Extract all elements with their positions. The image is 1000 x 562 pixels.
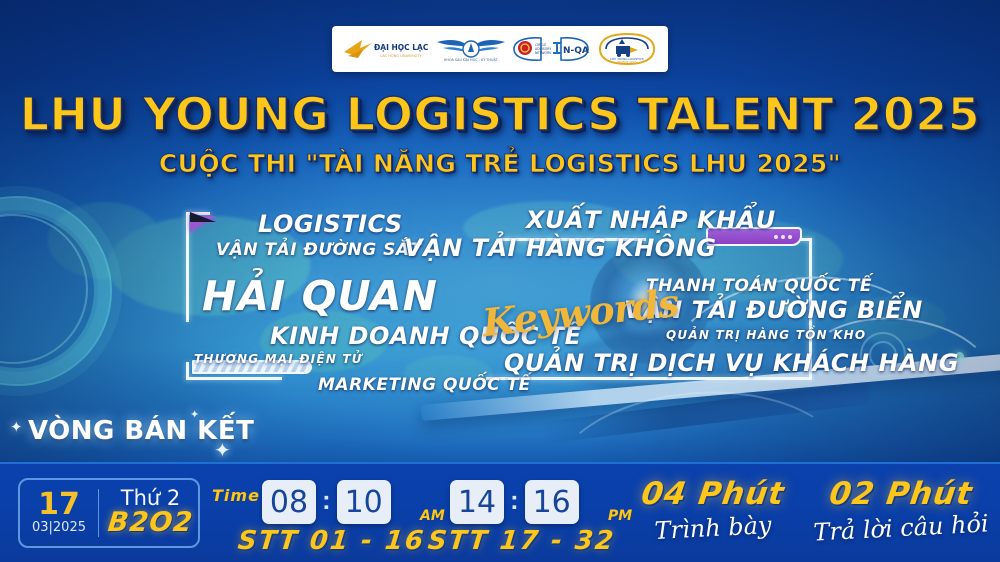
corner-triangle-icon <box>190 216 216 232</box>
keyword-van-tai-duong-sat: VẬN TẢI ĐƯỜNG SẮT <box>216 240 422 260</box>
slot-1-stt-range: STT 01 - 16 <box>236 526 426 556</box>
keyword-thanh-toan-quoc-te: THANH TOÁN QUỐC TẾ <box>646 276 872 296</box>
keyword-marketing-quoc-te: MARKETING QUỐC TẾ <box>318 375 531 395</box>
sponsor-logo-band: ĐẠI HỌC LẠC HỒNG LAC HONG UNIVERSITY KHO… <box>332 26 668 72</box>
slot-1-end: 10 <box>337 480 391 524</box>
keyword-hai-quan: HẢI QUAN <box>202 272 438 320</box>
keyword-quan-tri-hang-ton-kho: QUẢN TRỊ HÀNG TỒN KHO <box>666 328 866 342</box>
khoa-sau-dai-hoc-logo: KHOA SAU ĐẠI HỌC - KỸ THUẬT <box>435 29 507 69</box>
page-subtitle: CUỘC THI "TÀI NĂNG TRẺ LOGISTICS LHU 202… <box>0 149 1000 178</box>
dai-hoc-lac-hong-logo: ĐẠI HỌC LẠC HỒNG LAC HONG UNIVERSITY <box>342 29 430 69</box>
date-month-year: 03|2025 <box>20 520 98 535</box>
time-separator: : <box>510 487 519 517</box>
time-slot-2-clock: 14 : 16 <box>450 480 579 524</box>
frame-edge <box>186 212 189 322</box>
time-label: Time <box>212 486 260 505</box>
room-code: B2O2 <box>102 509 200 537</box>
poster-canvas: ĐẠI HỌC LẠC HỒNG LAC HONG UNIVERSITY KHO… <box>0 0 1000 562</box>
frame-edge <box>486 377 812 380</box>
svg-text:TALENT 2025: TALENT 2025 <box>616 60 636 64</box>
keyword-quan-tri-dich-vu-khach-hang: QUẢN TRỊ DỊCH VỤ KHÁCH HÀNG <box>504 349 959 377</box>
frame-edge <box>186 377 282 380</box>
slot-2-start: 14 <box>450 480 504 524</box>
svg-text:NETWORK: NETWORK <box>535 51 552 55</box>
schedule-bar: 17 03|2025 Thứ 2 B2O2 Time 08 : 10 AM ST… <box>0 462 1000 562</box>
date-day-block: 17 03|2025 <box>20 491 98 536</box>
keyword-thuong-mai-dien-tu: THƯƠNG MẠI ĐIỆN TỬ <box>194 352 363 366</box>
weekday-room-block: Thứ 2 B2O2 <box>99 488 198 537</box>
qa-minutes: 02 Phút <box>807 476 994 512</box>
time-slot-1-clock: 08 : 10 <box>262 480 391 524</box>
duration-qa: 02 Phút Trả lời câu hỏi <box>810 476 992 542</box>
date-box: 17 03|2025 Thứ 2 B2O2 <box>18 478 200 548</box>
qa-activity: Trả lời câu hỏi <box>809 509 992 546</box>
lhu-young-logistics-talent-logo: LHU YOUNG LOGISTICS TALENT 2025 <box>596 29 658 69</box>
keyword-logistics: LOGISTICS <box>258 210 403 238</box>
page-title: LHU YOUNG LOGISTICS TALENT 2025 <box>0 88 1000 141</box>
slot-1-meridiem: AM <box>420 508 445 524</box>
slot-2-stt-range: STT 17 - 32 <box>426 526 616 556</box>
svg-text:LAC HONG UNIVERSITY: LAC HONG UNIVERSITY <box>380 54 422 58</box>
keywords-frame: LOGISTICS VẬN TẢI ĐƯỜNG SẮT HẢI QUAN KIN… <box>186 212 812 380</box>
sparkle-icon: ✦ <box>10 418 23 436</box>
duration-presentation: 04 Phút Trình bày <box>618 476 808 542</box>
svg-text:KHOA SAU ĐẠI HỌC - KỸ THUẬT: KHOA SAU ĐẠI HỌC - KỸ THUẬT <box>444 57 499 62</box>
round-label: VÒNG BÁN KẾT <box>28 416 254 446</box>
date-day: 17 <box>20 491 98 520</box>
radar-circle-icon <box>0 196 112 386</box>
slot-2-end: 16 <box>525 480 579 524</box>
un-qa-accreditation-logo: CIRCLE ADVISORY NETWORK N-QA <box>511 29 591 69</box>
title-block: LHU YOUNG LOGISTICS TALENT 2025 CUỘC THI… <box>0 88 1000 178</box>
keyword-van-tai-hang-khong: VẬN TẢI HÀNG KHÔNG <box>404 234 717 262</box>
presentation-activity: Trình bày <box>617 509 808 547</box>
time-separator: : <box>322 487 331 517</box>
keyword-xuat-nhap-khau: XUẤT NHẬP KHẨU <box>526 206 776 234</box>
presentation-minutes: 04 Phút <box>615 476 810 512</box>
slot-1-start: 08 <box>262 480 316 524</box>
svg-text:ĐẠI HỌC LẠC HỒNG: ĐẠI HỌC LẠC HỒNG <box>374 42 430 52</box>
radar-inner-circle-icon <box>0 214 88 364</box>
svg-text:N-QA: N-QA <box>563 46 589 56</box>
